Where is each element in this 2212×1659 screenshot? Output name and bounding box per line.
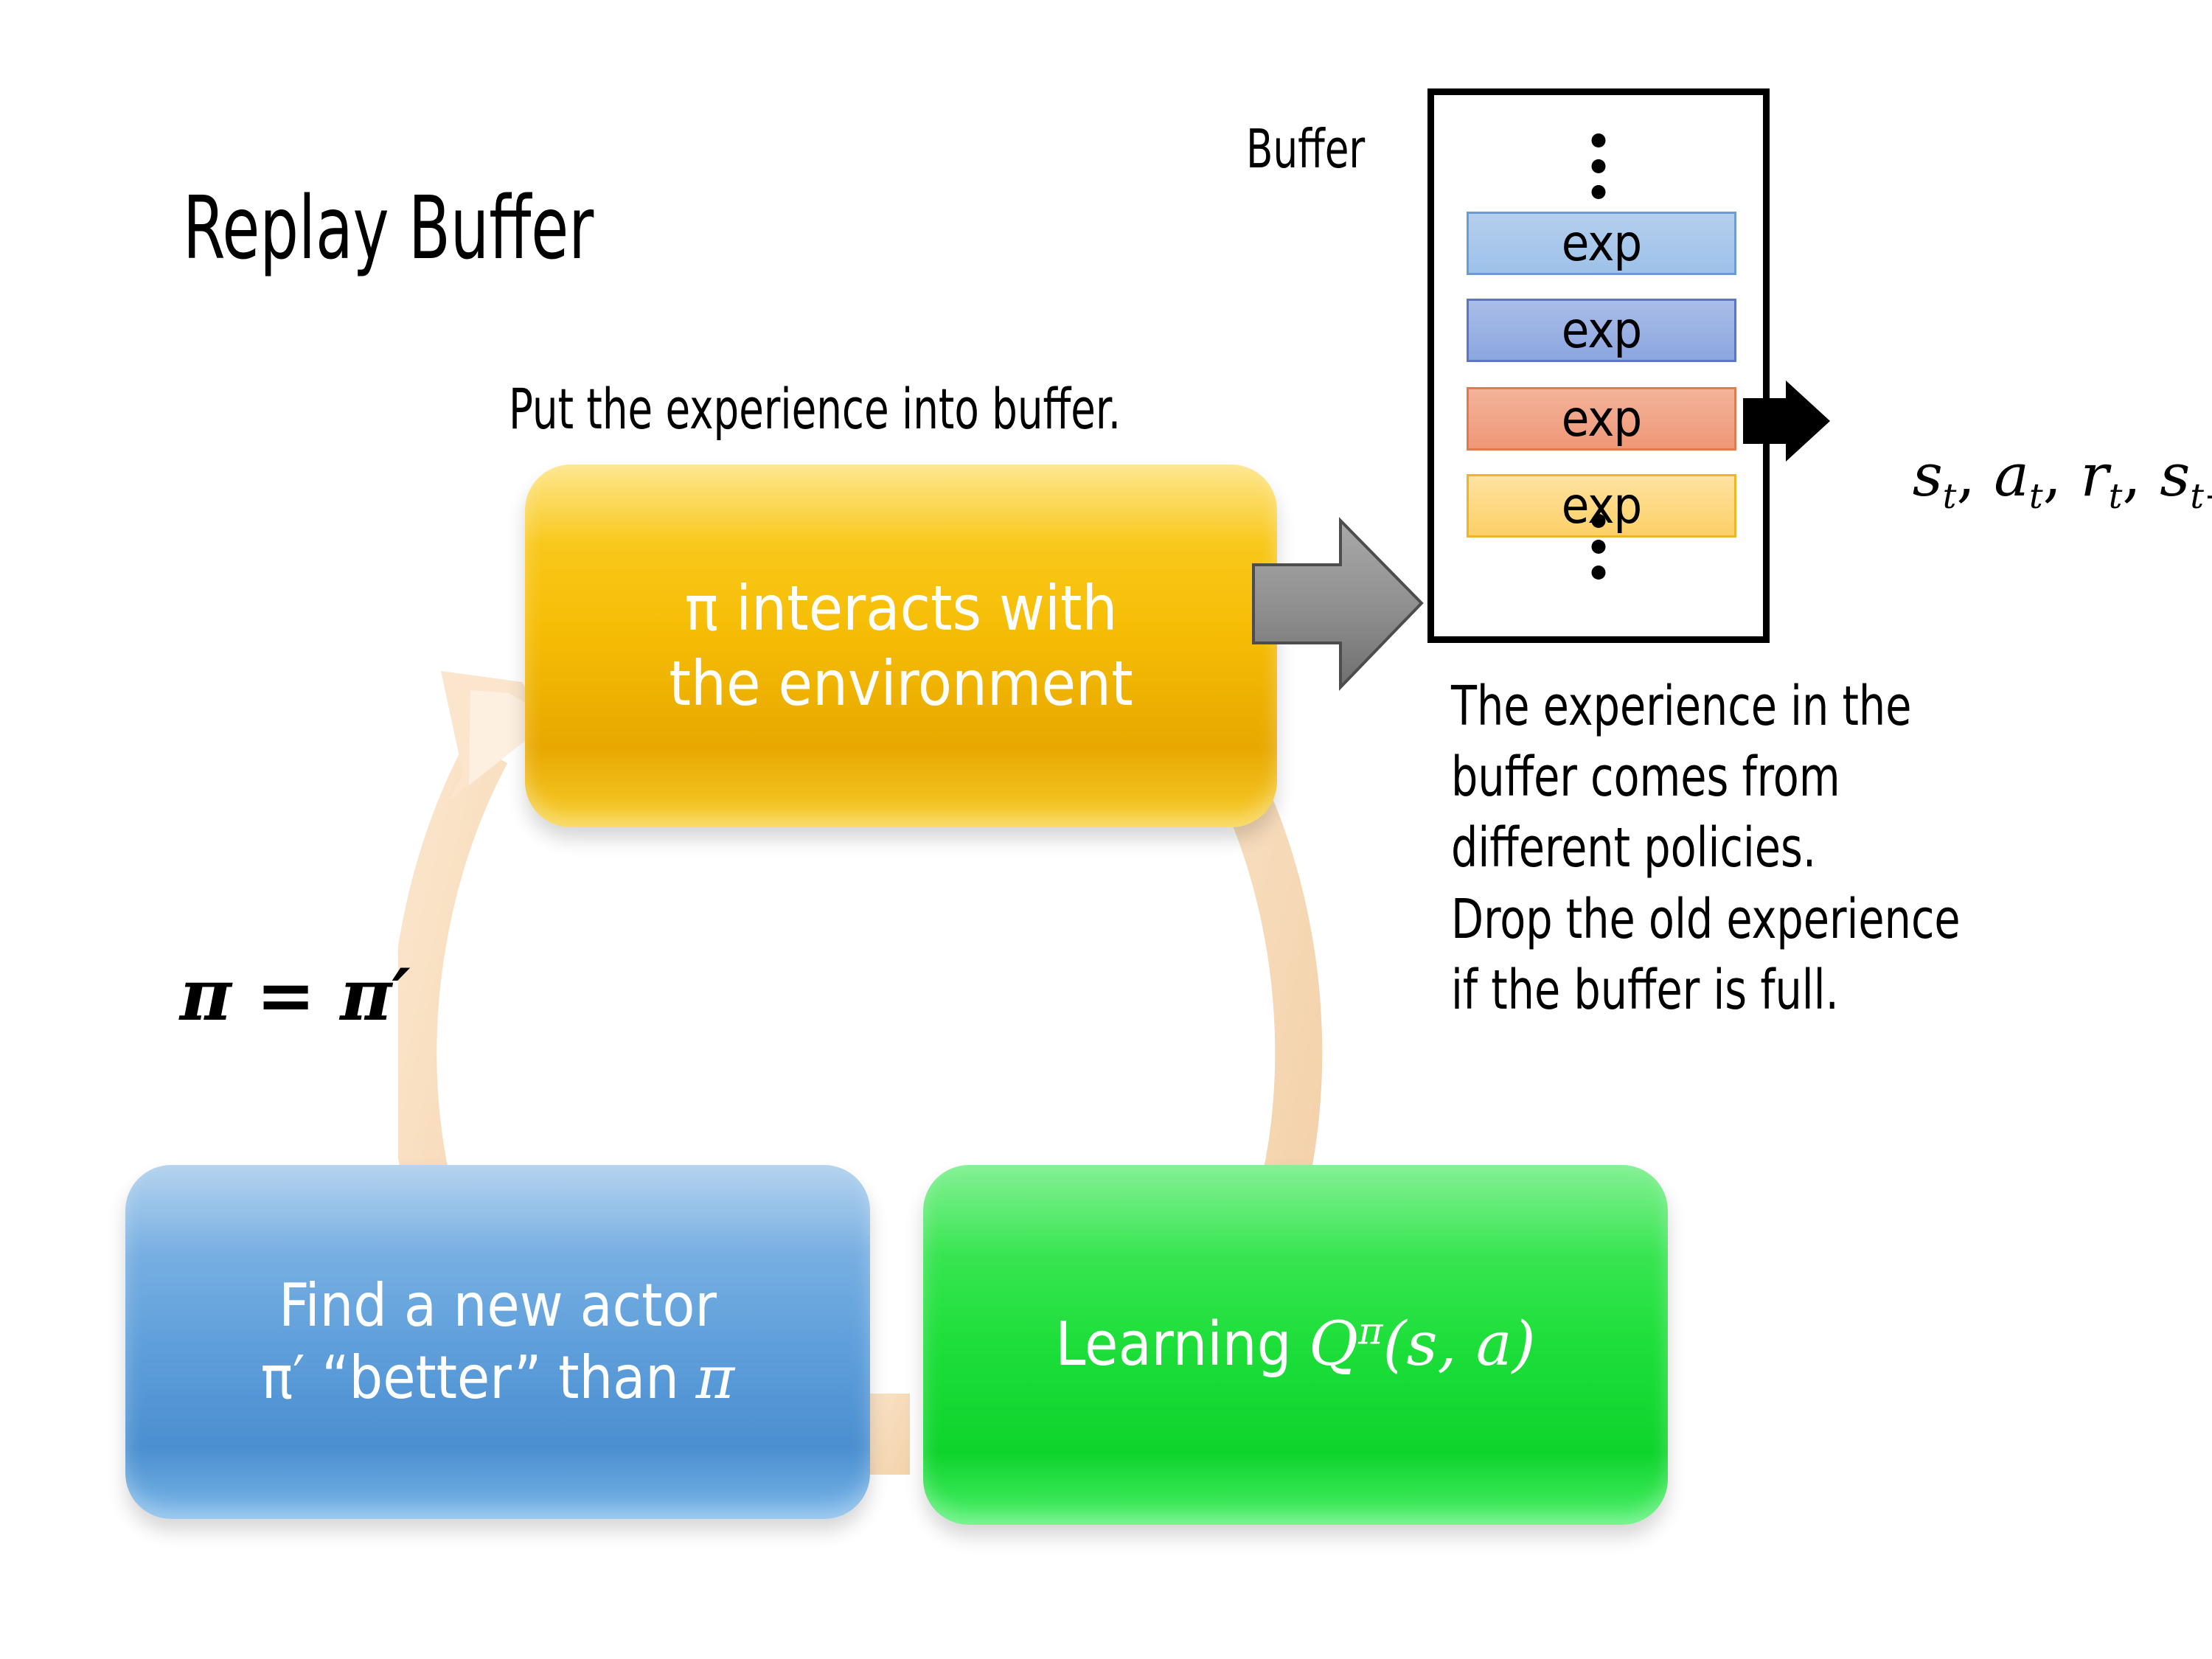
state-subscript: t: [1943, 476, 1957, 516]
reward-subscript: t: [2109, 476, 2123, 516]
vertical-ellipsis-bottom-icon: [1592, 514, 1606, 580]
buffer-entry-2[interactable]: exp: [1467, 387, 1736, 451]
buffer-entry-label: exp: [1562, 302, 1642, 360]
box-find-line2-text: π′ “better” than: [261, 1343, 696, 1412]
experience-tuple-formula: st, at, rt, st+1: [1837, 372, 2212, 585]
q-function-symbol: Qπ(s, a): [1309, 1310, 1536, 1380]
note-line-4: if the buffer is full.: [1451, 955, 2110, 1026]
box-find-new-actor[interactable]: Find a new actor π′ “better” than π: [125, 1165, 870, 1519]
box-interact-line1: π interacts with: [669, 571, 1133, 646]
box-interact-line2: the environment: [669, 646, 1133, 721]
slide-canvas: Replay Buffer Buffer Put the experience …: [0, 0, 2212, 1659]
buffer-explanation-note: The experience in the buffer comes from …: [1451, 671, 2110, 1026]
reward-symbol: r: [2081, 441, 2109, 509]
q-superscript-pi: π: [1358, 1310, 1382, 1353]
pi-rhs: π′: [340, 953, 411, 1037]
policy-pi-symbol: π: [696, 1343, 735, 1412]
buffer-entry-0[interactable]: exp: [1467, 212, 1736, 275]
note-line-1: buffer comes from: [1451, 742, 2110, 813]
equals-sign: =: [256, 953, 315, 1037]
buffer-label: Buffer: [1246, 118, 1365, 180]
vertical-ellipsis-top-icon: [1592, 133, 1606, 199]
put-experience-caption: Put the experience into buffer.: [509, 376, 1121, 442]
box-learn-text: Learning: [1055, 1310, 1308, 1380]
policy-update-formula: π = π′: [81, 870, 411, 1120]
q-arguments: (s, a): [1382, 1310, 1535, 1380]
note-line-2: different policies.: [1451, 813, 2110, 883]
action-symbol: a: [1994, 441, 2029, 509]
action-subscript: t: [2029, 476, 2043, 516]
transfer-arrow-icon: [1251, 516, 1425, 693]
state-symbol: s: [1913, 441, 1943, 509]
pi-lhs: π: [180, 953, 232, 1037]
note-line-3: Drop the old experience: [1451, 884, 2110, 955]
box-find-line2: π′ “better” than π: [261, 1342, 735, 1414]
q-letter: Q: [1309, 1310, 1358, 1380]
buffer-entry-label: exp: [1562, 215, 1642, 273]
next-state-symbol: s: [2160, 441, 2190, 509]
box-learning-q-function[interactable]: Learning Qπ(s, a): [923, 1165, 1668, 1525]
box-interact-with-environment[interactable]: π interacts with the environment: [525, 465, 1277, 827]
buffer-entry-1[interactable]: exp: [1467, 299, 1736, 362]
buffer-entry-label: exp: [1562, 390, 1642, 448]
page-title: Replay Buffer: [183, 177, 594, 279]
replay-buffer-container: exp exp exp exp: [1427, 88, 1770, 643]
sample-arrow-icon: [1743, 378, 1832, 465]
note-line-0: The experience in the: [1451, 671, 2110, 742]
box-find-line1: Find a new actor: [261, 1270, 735, 1342]
next-state-subscript: t+1: [2190, 476, 2212, 516]
